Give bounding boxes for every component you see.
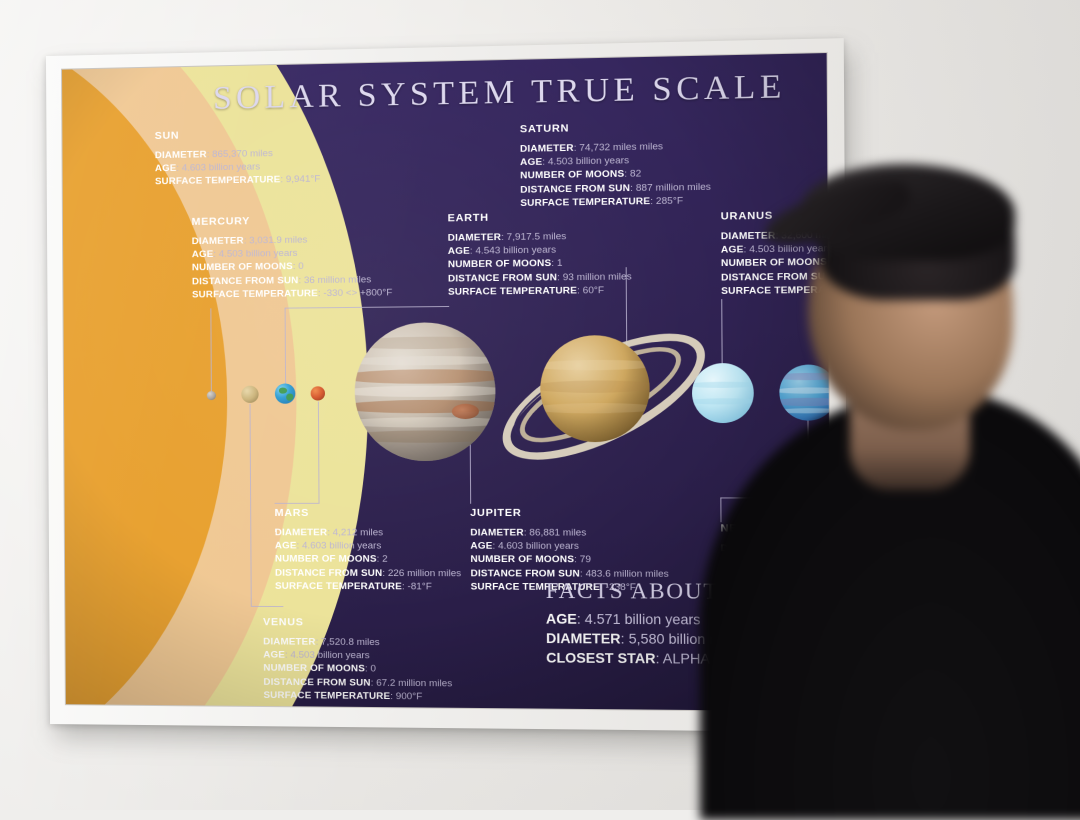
body-name-saturn: SATURN <box>520 120 711 136</box>
body-name-jupiter: JUPITER <box>470 507 668 519</box>
person-edge-blend <box>700 120 1080 820</box>
row-age: AGE: 4.603 billion years <box>275 539 461 553</box>
row-temperature: SURFACE TEMPERATURE: 285°F <box>520 194 711 210</box>
earth-landmass <box>286 394 293 401</box>
info-block-mars: MARS DIAMETER: 4,212 miles AGE: 4.603 bi… <box>275 507 462 594</box>
body-name-earth: EARTH <box>448 210 632 225</box>
row-distance: DISTANCE FROM SUN: 226 million miles <box>275 566 461 580</box>
earth-landmass <box>279 388 287 394</box>
connector-earth-horizontal <box>285 306 450 309</box>
row-temperature: SURFACE TEMPERATURE: -330 <> +800°F <box>192 286 392 302</box>
row-distance: DISTANCE FROM SUN: 93 million miles <box>448 270 632 286</box>
planet-venus <box>241 386 258 403</box>
planet-mercury <box>207 391 216 400</box>
row-age: AGE: 4.603 billion years <box>470 540 668 554</box>
connector-venus-horizontal <box>251 606 284 607</box>
row-diameter: DIAMETER: 7,520.8 miles <box>263 635 452 650</box>
row-moons: NUMBER OF MOONS: 79 <box>470 553 668 567</box>
jupiter-shading <box>354 322 496 461</box>
info-block-saturn: SATURN DIAMETER: 74,732 miles miles AGE:… <box>520 120 711 211</box>
row-diameter: DIAMETER: 86,881 miles <box>470 526 668 540</box>
info-block-venus: VENUS DIAMETER: 7,520.8 miles AGE: 4.503… <box>263 616 452 704</box>
info-block-mercury: MERCURY DIAMETER: 3,031.9 miles AGE: 4.5… <box>192 213 393 302</box>
planet-saturn-group <box>494 312 695 467</box>
row-temperature: SURFACE TEMPERATURE: 9,941°F <box>155 173 320 189</box>
connector-mars-horizontal <box>275 503 320 504</box>
row-diameter: DIAMETER: 4,212 miles <box>275 526 461 540</box>
body-name-mars: MARS <box>275 507 461 519</box>
info-block-sun: SUN DIAMETER: 865,370 miles AGE: 4.603 b… <box>155 127 321 189</box>
row-temperature: SURFACE TEMPERATURE: 60°F <box>448 283 632 298</box>
saturn-shading <box>540 335 650 442</box>
page-title: SOLAR SYSTEM TRUE SCALE <box>213 68 786 117</box>
foreground-person <box>700 120 1080 820</box>
planet-jupiter <box>354 322 496 461</box>
row-distance: DISTANCE FROM SUN: 67.2 million miles <box>263 675 452 690</box>
info-block-earth: EARTH DIAMETER: 7,917.5 miles AGE: 4.543… <box>448 210 632 299</box>
body-name-sun: SUN <box>155 127 320 142</box>
row-age: AGE: 4.503 billion years <box>263 649 452 664</box>
body-name-venus: VENUS <box>263 616 452 629</box>
row-temperature: SURFACE TEMPERATURE: -81°F <box>275 580 461 594</box>
row-moons: NUMBER OF MOONS: 2 <box>275 553 461 567</box>
planet-earth <box>275 383 296 403</box>
row-temperature: SURFACE TEMPERATURE: 900°F <box>263 689 452 704</box>
row-moons: NUMBER OF MOONS: 0 <box>263 662 452 677</box>
planet-saturn <box>540 335 650 442</box>
planet-mars <box>311 386 325 400</box>
body-name-mercury: MERCURY <box>192 213 392 228</box>
